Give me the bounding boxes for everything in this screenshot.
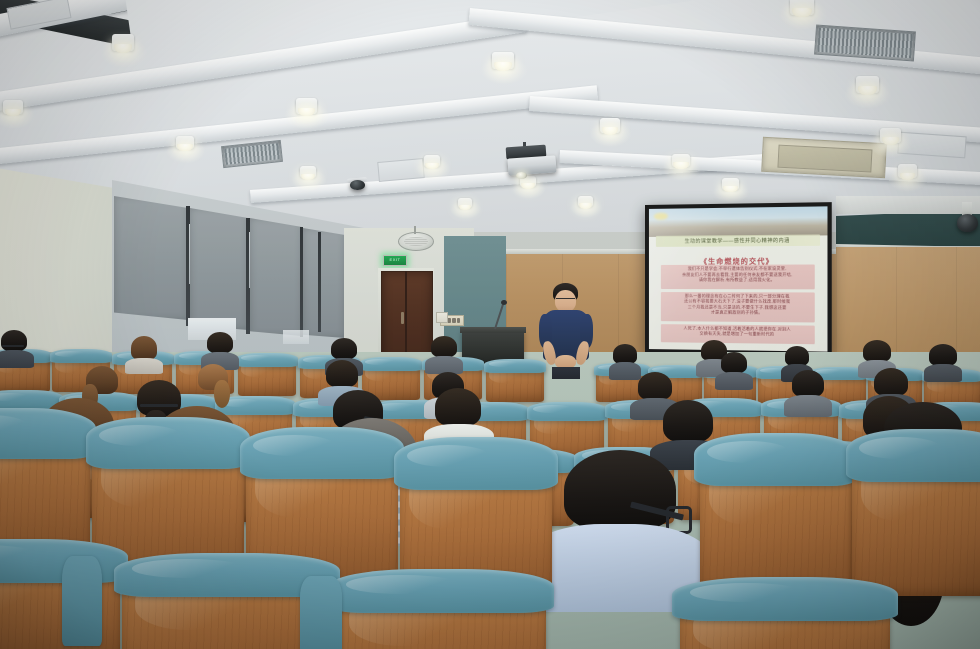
roller-blind-3[interactable] (250, 218, 302, 336)
glasses-icon (2, 345, 24, 347)
audience-member (206, 332, 234, 364)
presenter-glasses-icon (556, 298, 575, 302)
hair (721, 352, 747, 373)
seat-bottom-edge[interactable] (336, 578, 546, 649)
armrest (62, 556, 102, 646)
light-glow-4 (166, 139, 206, 163)
door-handle[interactable] (401, 312, 404, 324)
ceiling-speaker-icon (398, 232, 434, 251)
light-glow-1 (100, 38, 148, 68)
light-glow-16 (570, 198, 603, 218)
exit-sign-label: EXIT (384, 256, 406, 263)
light-glow-10 (844, 80, 892, 109)
right-wall-upper (836, 196, 980, 214)
presenter (536, 283, 598, 375)
door-center-seam (405, 271, 407, 362)
audience-member (0, 330, 28, 362)
window-light-gap-2 (283, 330, 309, 344)
projection-screen[interactable]: 生动的课堂教学——感性并同心精神的内涵 《生命燃烧的交代》 我们不只是学会,不举… (645, 202, 832, 356)
dome-camera-wall-icon (957, 214, 978, 232)
hair (331, 338, 357, 359)
shoulders (715, 372, 753, 390)
light-glow-3 (284, 102, 330, 130)
audience-member (130, 336, 158, 368)
hair (863, 340, 891, 362)
light-glow-13 (869, 131, 913, 158)
shoulders (125, 358, 163, 374)
seat-foreground[interactable] (852, 440, 980, 596)
light-glow-6 (415, 158, 451, 180)
exit-door[interactable] (381, 271, 433, 364)
hair (663, 400, 713, 442)
audience-member (790, 370, 826, 412)
hair (326, 360, 358, 387)
armrest (300, 576, 342, 649)
shoulders (924, 364, 962, 382)
slide-text-block-3: 人死了,本人什么都不知道,活着活着的人就把你在,对别人 交换有天失,就是增加了一… (661, 324, 815, 344)
hair (785, 346, 809, 366)
audience-member (928, 344, 958, 378)
audience-member (612, 344, 638, 374)
hair (792, 370, 824, 397)
light-glow-17 (512, 178, 546, 199)
projection-screen-surface: 生动的课堂教学——感性并同心精神的内涵 《生命燃烧的交代》 我们不只是学会,不举… (649, 206, 828, 351)
light-glow-15 (713, 181, 749, 203)
seat-bottom-edge[interactable] (680, 586, 890, 649)
seat[interactable] (238, 356, 296, 396)
slide-text-block-1: 我们不只是学会,不举行遗体告别仪式,不在家设灵堂, 亲朋友们人不要再去看我,主要… (661, 265, 815, 290)
microphone-icon[interactable] (501, 300, 507, 305)
blind-divider-3 (300, 227, 303, 337)
blind-divider-4 (318, 232, 321, 332)
light-glow-9 (480, 56, 528, 85)
light-glow-7 (450, 200, 482, 219)
light-glow-14 (888, 167, 928, 192)
dome-camera-ceiling-icon (350, 180, 365, 190)
hair-ponytail (214, 380, 230, 408)
hair (874, 368, 908, 396)
light-glow-8 (778, 0, 828, 30)
hair (613, 344, 637, 364)
ac-cassette-right (761, 137, 887, 178)
shoulders (0, 350, 34, 368)
roller-blind-4[interactable] (303, 228, 345, 338)
light-glow-12 (662, 157, 701, 181)
roller-blind-1[interactable] (114, 196, 188, 320)
roller-blind-2[interactable] (190, 208, 248, 330)
presenter-legs (552, 367, 580, 379)
seat[interactable] (486, 362, 544, 402)
hair (431, 336, 457, 357)
slide-header-banner: 生动的课堂教学——感性并同心精神的内涵 (656, 234, 820, 247)
hair (929, 344, 957, 366)
projector-lens-icon (516, 172, 527, 179)
hair (1, 330, 27, 351)
projector-icon (507, 155, 556, 175)
light-glow-5 (291, 169, 327, 191)
speaker-hanger (414, 226, 416, 234)
audience-member (720, 352, 748, 384)
hair (207, 332, 233, 353)
audience-member (196, 364, 230, 404)
light-glow-11 (589, 121, 632, 147)
shoulders (784, 395, 832, 417)
lecture-hall-photo: EXIT 生动的课堂教学——感性并同心精神的内涵 《生命燃烧的交代》 我们不只是… (0, 0, 980, 649)
hair (435, 388, 481, 426)
hair (131, 336, 157, 360)
wall-outlet[interactable] (436, 312, 448, 323)
hair (638, 372, 672, 400)
slide-header-photo (649, 206, 828, 237)
exit-sign: EXIT (383, 255, 407, 266)
slide-text-block-2: 那么一番的理念有在心二时何了下来的,只一部分理在我 还公有不容我要大石天下了,没… (661, 292, 815, 323)
audience-member (430, 336, 458, 368)
seat-bottom-edge[interactable] (0, 548, 120, 649)
